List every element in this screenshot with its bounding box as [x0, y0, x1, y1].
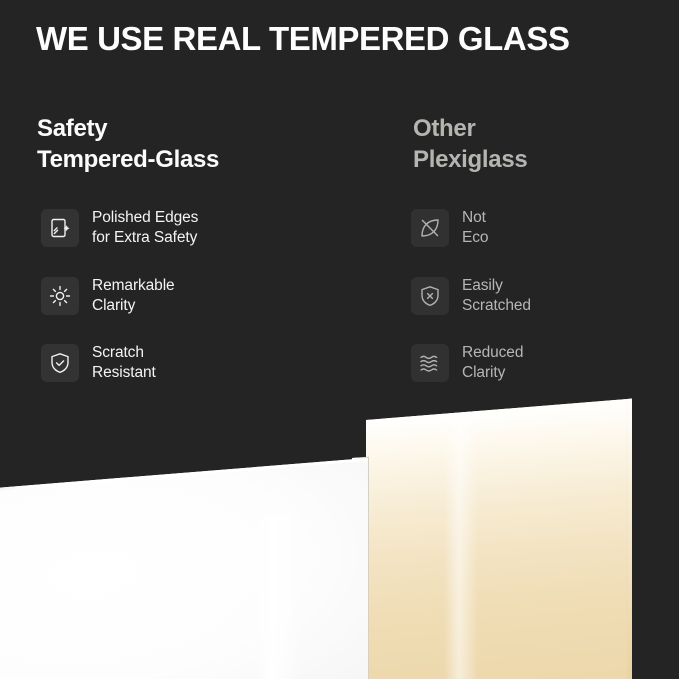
column-heading-line1: Other	[413, 115, 476, 142]
sun-brightness-icon	[41, 277, 79, 315]
feature-row: Remarkable Clarity	[41, 276, 175, 317]
feature-label-line2: Clarity	[462, 363, 523, 383]
feature-label-line2: Resistant	[92, 363, 156, 383]
column-heading-plexiglass: Other Plexiglass	[413, 113, 527, 175]
feature-row: Reduced Clarity	[411, 343, 523, 384]
comparison-infographic: WE USE REAL TEMPERED GLASS Safety Temper…	[0, 0, 679, 679]
feature-label: Scratch Resistant	[92, 343, 156, 384]
plexiglass-panel-sheen	[444, 411, 478, 679]
page-title: WE USE REAL TEMPERED GLASS	[36, 20, 570, 58]
shield-x-icon	[411, 277, 449, 315]
column-heading-line2: Tempered-Glass	[37, 144, 219, 175]
tempered-glass-panel	[0, 458, 368, 679]
feature-label-line1: Scratch	[92, 344, 144, 361]
shield-check-icon	[41, 344, 79, 382]
feature-label-line2: Clarity	[92, 296, 175, 316]
feature-label: Reduced Clarity	[462, 343, 523, 384]
leaf-crossed-out-icon	[411, 209, 449, 247]
feature-label-line2: Scratched	[462, 296, 531, 316]
column-heading-tempered-glass: Safety Tempered-Glass	[37, 113, 219, 175]
feature-label-line1: Remarkable	[92, 277, 175, 294]
feature-row: Not Eco	[411, 208, 488, 249]
plexiglass-panel-top-edge	[366, 399, 632, 423]
feature-label-line1: Not	[462, 209, 486, 226]
feature-row: Scratch Resistant	[41, 343, 156, 384]
tempered-glass-panel-sheen	[254, 513, 300, 679]
feature-label: Polished Edges for Extra Safety	[92, 208, 198, 249]
tempered-glass-panel-top-edge	[0, 458, 368, 492]
feature-label: Easily Scratched	[462, 276, 531, 317]
feature-label-line2: Eco	[462, 228, 488, 248]
feature-label-line1: Reduced	[462, 344, 523, 361]
feature-label-line2: for Extra Safety	[92, 228, 198, 248]
column-heading-line1: Safety	[37, 115, 107, 142]
feature-label-line1: Polished Edges	[92, 209, 198, 226]
polished-edge-sparkle-icon	[41, 209, 79, 247]
wavy-lines-distortion-icon	[411, 344, 449, 382]
product-comparison-photo	[0, 398, 679, 679]
feature-label: Remarkable Clarity	[92, 276, 175, 317]
plexiglass-panel	[366, 399, 632, 679]
feature-label-line1: Easily	[462, 277, 503, 294]
column-heading-line2: Plexiglass	[413, 144, 527, 175]
feature-row: Easily Scratched	[411, 276, 531, 317]
plexiglass-panel-right-edge	[628, 399, 632, 679]
feature-row: Polished Edges for Extra Safety	[41, 208, 198, 249]
feature-label: Not Eco	[462, 208, 488, 249]
